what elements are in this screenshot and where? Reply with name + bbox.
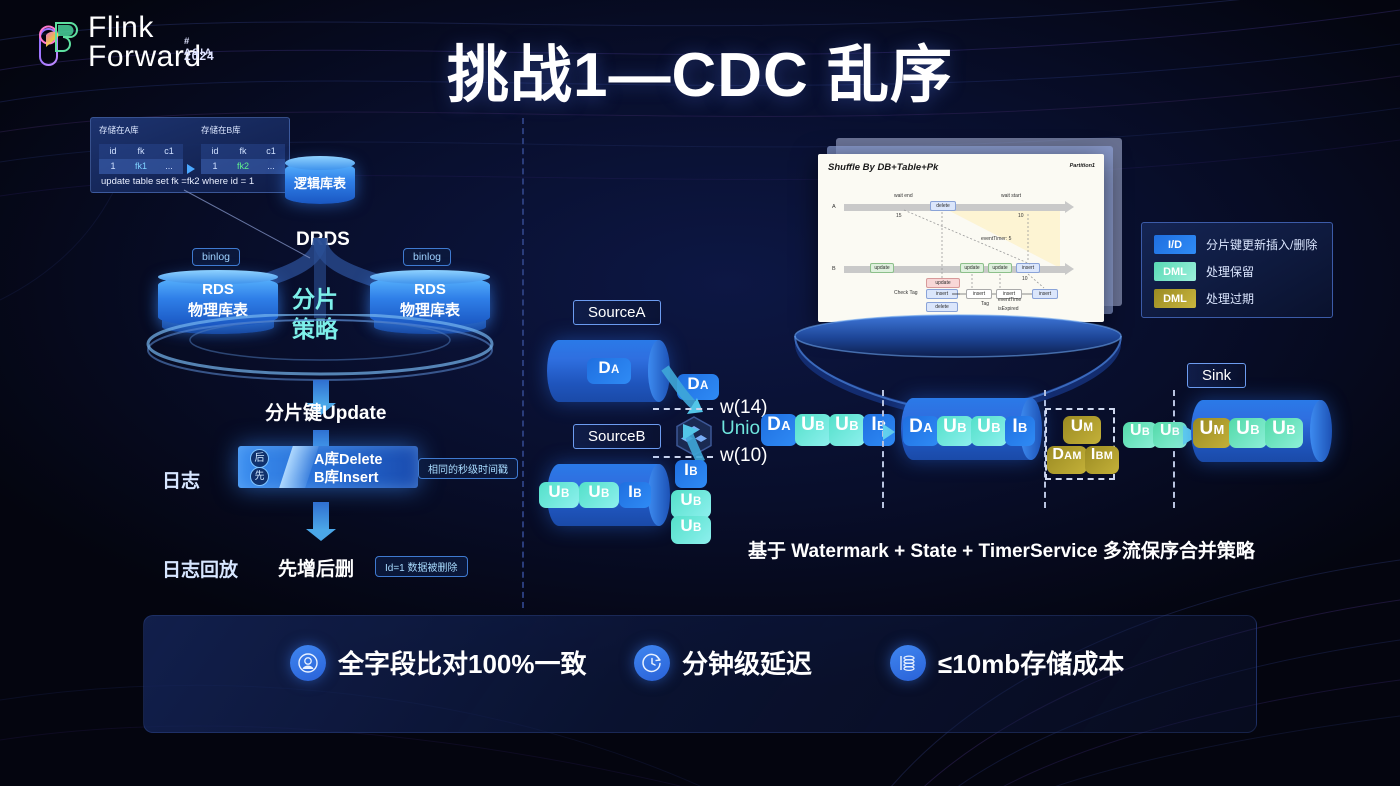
sink-chip-1: UB — [1229, 418, 1267, 448]
sink-tag[interactable]: Sink — [1187, 363, 1246, 388]
bottom-stats-bar: 全字段比对100%一致 分钟级延迟 — [143, 615, 1257, 733]
insert-then-delete-label: 先增后删 — [278, 554, 354, 581]
source-b-out-chip-1: UB — [671, 490, 711, 518]
platform-ellipse — [144, 314, 496, 384]
slide-canvas: Flink Forward # ASIA 2024 挑战1—CDC 乱序 存储在… — [0, 0, 1400, 786]
stat-text-0: 全字段比对100%一致 — [338, 644, 587, 681]
union-out-chip-1: UB — [795, 414, 831, 446]
source-a-chip-0: DA — [587, 358, 631, 384]
clock-icon — [634, 645, 670, 681]
log-bar: 后 先 A库Delete B库Insert — [238, 446, 418, 488]
watermark-bottom-label: w(10) — [720, 445, 768, 467]
legend-key-1: DML — [1154, 262, 1196, 281]
merged-chip-0: DA — [903, 416, 939, 446]
shuffle-card-stack: Shuffle By DB+Table+Pk Partition1 A wait… — [810, 136, 1120, 326]
stage-boundary-right — [1173, 390, 1175, 508]
coins-stack-icon — [890, 645, 926, 681]
expired-chip-top-0: UM — [1063, 416, 1101, 444]
watermark-line-top — [653, 408, 713, 410]
union-out-chip-0: DA — [761, 414, 797, 446]
source-b-chip-0: UB — [539, 482, 579, 508]
stat-text-2: ≤10mb存储成本 — [938, 644, 1124, 681]
deleted-note: Id=1 数据被删除 — [375, 556, 468, 577]
legend-text-2: 处理过期 — [1206, 290, 1254, 307]
rds-right-line1: RDS — [370, 281, 490, 298]
shuffle-connectors — [818, 154, 1104, 322]
merged-chip-3: IB — [1005, 416, 1035, 446]
vertical-dashed-divider — [522, 118, 524, 608]
sink-chip-2: UB — [1265, 418, 1303, 448]
watermark-top-label: w(14) — [720, 397, 768, 419]
source-b-tag[interactable]: SourceB — [573, 424, 661, 449]
target-accuracy-icon — [290, 645, 326, 681]
binlog-pill-right: binlog — [403, 248, 451, 266]
source-a-flow-arrow-icon — [657, 364, 727, 422]
page-title: 挑战1—CDC 乱序 — [0, 24, 1400, 114]
merged-chip-2: UB — [971, 416, 1007, 446]
left-diagram-panel: 存储在A库 id fk c1 1 fk1 ... 存储在B库 id fk — [80, 118, 520, 598]
passthrough-chip-0: UB — [1123, 422, 1157, 448]
stage-boundary-left — [882, 390, 884, 508]
merge-in-arrow-icon — [883, 424, 895, 440]
strategy-caption: 基于 Watermark + State + TimerService 多流保序… — [748, 536, 1255, 563]
same-timestamp-note: 相同的秒级时间戳 — [418, 458, 518, 479]
legend-row-1: DML 处理保留 — [1154, 262, 1254, 281]
legend-text-0: 分片键更新插入/删除 — [1206, 236, 1317, 253]
union-out-chip-2: UB — [829, 414, 865, 446]
legend-row-2: DML 处理过期 — [1154, 289, 1254, 308]
source-b-out-chip-0: IB — [675, 460, 707, 488]
merged-chip-1: UB — [937, 416, 973, 446]
log-replay-label: 日志回放 — [162, 555, 238, 582]
legend-key-2: DML — [1154, 289, 1196, 308]
shuffle-diagram-card: Shuffle By DB+Table+Pk Partition1 A wait… — [818, 154, 1104, 322]
log-badge-first: 先 — [250, 467, 269, 486]
source-b-chip-1: UB — [579, 482, 619, 508]
source-b-chip-2: IB — [619, 482, 651, 508]
stat-item-2: ≤10mb存储成本 — [890, 644, 1124, 681]
log-label: 日志 — [162, 466, 200, 493]
shard-key-update-label: 分片键Update — [265, 398, 386, 425]
stat-text-1: 分钟级延迟 — [682, 644, 812, 681]
expired-chip-bottom-1: IBM — [1085, 446, 1119, 474]
log-badge-after: 后 — [250, 449, 269, 468]
right-pipeline-panel: Shuffle By DB+Table+Pk Partition1 A wait… — [525, 118, 1385, 598]
log-bar-slash — [279, 446, 319, 488]
arrow-down-3-icon — [313, 502, 329, 530]
legend-row-0: I/D 分片键更新插入/删除 — [1154, 235, 1317, 254]
shard-strategy-line1: 分片 — [292, 280, 338, 314]
stat-item-1: 分钟级延迟 — [634, 644, 812, 681]
sink-chip-0: UM — [1193, 418, 1231, 448]
legend-key-0: I/D — [1154, 235, 1196, 254]
rds-left-line1: RDS — [158, 281, 278, 298]
legend-text-1: 处理保留 — [1206, 263, 1254, 280]
expired-chip-bottom-0: DAM — [1047, 446, 1087, 474]
stat-item-0: 全字段比对100%一致 — [290, 644, 587, 681]
binlog-pill-left: binlog — [192, 248, 240, 266]
source-b-out-chip-2: UB — [671, 516, 711, 544]
source-a-tag[interactable]: SourceA — [573, 300, 661, 325]
log-line-2: B库Insert — [314, 466, 378, 487]
legend-box: I/D 分片键更新插入/删除 DML 处理保留 DML 处理过期 — [1141, 222, 1333, 318]
passthrough-chip-1: UB — [1153, 422, 1187, 448]
